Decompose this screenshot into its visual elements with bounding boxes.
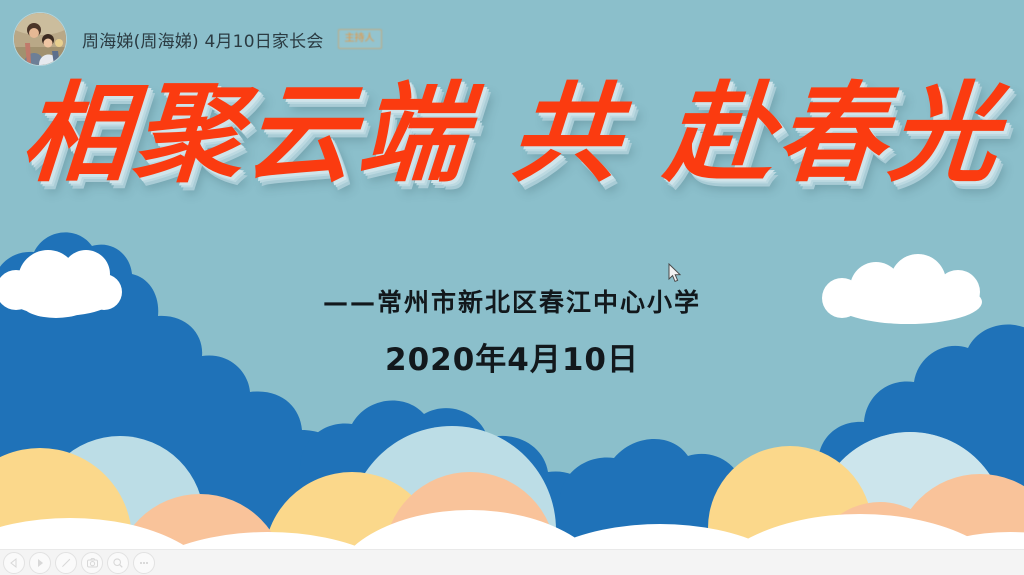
pen-icon	[60, 557, 72, 569]
screenshot-button[interactable]	[81, 552, 103, 574]
zoom-button[interactable]	[107, 552, 129, 574]
more-button[interactable]	[133, 552, 155, 574]
play-icon	[35, 558, 45, 568]
play-button[interactable]	[29, 552, 51, 574]
more-icon	[138, 557, 150, 569]
presentation-viewer: 相聚云端 共 赴春光 ——常州市新北区春江中心小学 2020年4月10日	[0, 0, 1024, 575]
previous-button[interactable]	[3, 552, 25, 574]
previous-icon	[9, 558, 19, 568]
annotate-button[interactable]	[55, 552, 77, 574]
zoom-icon	[112, 557, 124, 569]
camera-icon	[86, 557, 99, 569]
slide-background-illustration	[0, 0, 1024, 575]
slide-canvas	[0, 0, 1024, 575]
presentation-toolbar	[0, 549, 1024, 575]
